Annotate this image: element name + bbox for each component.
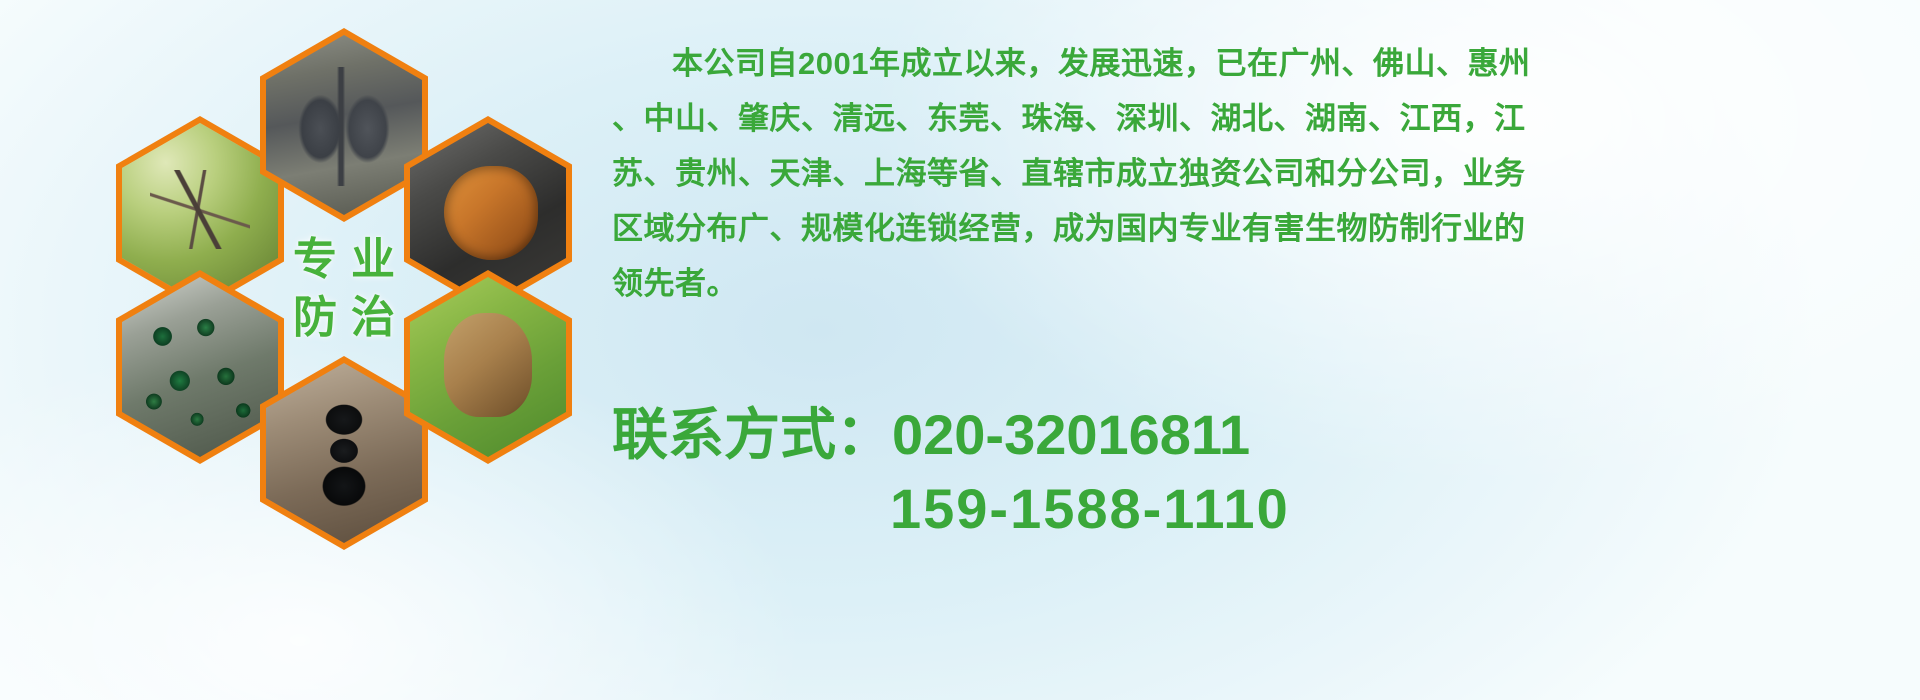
hex-inner-ant — [266, 363, 422, 543]
intro-line-4: 区域分布广、规模化连锁经营，成为国内专业有害生物防制行业的 — [612, 201, 1912, 256]
hex-cell-stink-bug — [404, 270, 572, 464]
stink-bug-photo — [410, 277, 566, 457]
honeycomb-center-label: 专业 防治 — [260, 192, 428, 386]
hex-inner-rat — [266, 35, 422, 215]
banner-root: 专业 防治 本公司自2001年成立以来，发展迅速，已在广州、佛山、惠州 、中山、… — [0, 0, 1920, 700]
hex-inner-fly — [122, 277, 278, 457]
hex-cell-fly — [116, 270, 284, 464]
company-intro-block: 本公司自2001年成立以来，发展迅速，已在广州、佛山、惠州 、中山、肇庆、清远、… — [612, 36, 1912, 311]
intro-line-3: 苏、贵州、天津、上海等省、直辖市成立独资公司和分公司，业务 — [612, 146, 1912, 201]
hex-inner-stink-bug — [410, 277, 566, 457]
intro-line-2: 、中山、肇庆、清远、东莞、珠海、深圳、湖北、湖南、江西，江 — [612, 91, 1912, 146]
company-intro-paragraph: 本公司自2001年成立以来，发展迅速，已在广州、佛山、惠州 、中山、肇庆、清远、… — [612, 36, 1912, 311]
ant-photo — [266, 363, 422, 543]
intro-line-1: 本公司自2001年成立以来，发展迅速，已在广州、佛山、惠州 — [612, 36, 1912, 91]
contact-block: 联系方式：020-32016811 159-1588-1110 — [612, 398, 1912, 546]
contact-line-secondary[interactable]: 159-1588-1110 — [612, 472, 1912, 546]
intro-line-5: 领先者。 — [612, 256, 1912, 311]
center-label-line-1: 专业 — [279, 237, 409, 283]
rat-photo — [266, 35, 422, 215]
center-label-line-2: 防治 — [279, 295, 409, 341]
honeycomb-image-cluster: 专业 防治 — [88, 6, 608, 566]
fly-photo — [122, 277, 278, 457]
contact-line-primary[interactable]: 联系方式：020-32016811 — [612, 398, 1912, 472]
